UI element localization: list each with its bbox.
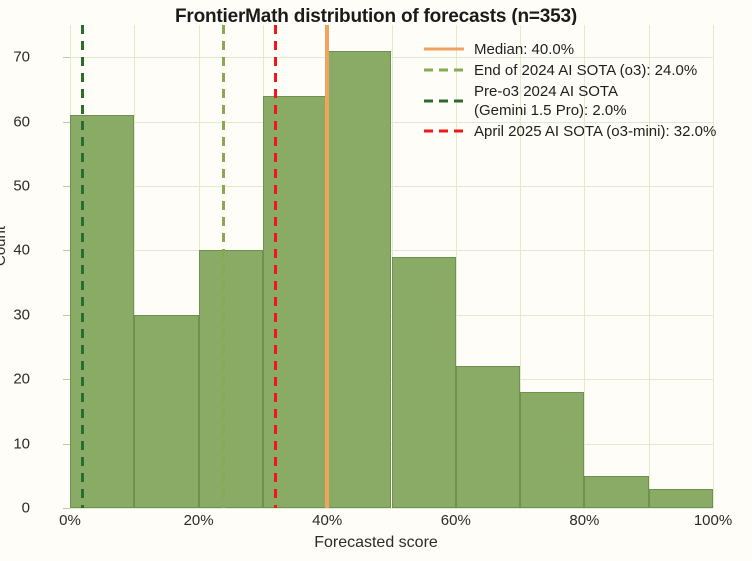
histogram-bar	[327, 51, 391, 508]
y-tick-label: 30	[0, 306, 30, 323]
dashed-line-icon	[424, 82, 464, 120]
x-axis-label: Forecasted score	[0, 534, 752, 552]
legend-item-label: April 2025 AI SOTA (o3-mini): 32.0%	[474, 122, 716, 141]
y-tick-label: 0	[0, 500, 30, 517]
reference-line-median	[325, 25, 329, 508]
reference-line-end-of-2024-sota	[222, 25, 225, 508]
histogram-bar	[520, 392, 584, 508]
dashed-line-icon	[424, 61, 464, 79]
y-tick-label: 70	[0, 49, 30, 66]
histogram-bar	[456, 366, 520, 508]
y-tick-label: 60	[0, 113, 30, 130]
y-tick-label: 50	[0, 178, 30, 195]
legend-item: Pre-o3 2024 AI SOTA (Gemini 1.5 Pro): 2.…	[424, 82, 742, 120]
y-tick-label: 20	[0, 371, 30, 388]
y-tick-mark	[63, 186, 70, 187]
histogram-bar	[584, 476, 648, 508]
solid-line-icon	[424, 40, 464, 58]
legend-item-label: Median: 40.0%	[474, 40, 574, 59]
y-tick-mark	[63, 315, 70, 316]
y-tick-label: 10	[0, 435, 30, 452]
legend-item: Median: 40.0%	[424, 40, 742, 59]
histogram-bar	[263, 96, 327, 508]
legend-item: April 2025 AI SOTA (o3-mini): 32.0%	[424, 122, 742, 141]
histogram-bar	[134, 315, 198, 508]
legend-item: End of 2024 AI SOTA (o3): 24.0%	[424, 61, 742, 80]
x-tick-label: 100%	[694, 512, 732, 529]
y-tick-mark	[63, 57, 70, 58]
legend: Median: 40.0%End of 2024 AI SOTA (o3): 2…	[424, 40, 742, 143]
histogram-bar	[199, 250, 263, 508]
histogram-bar	[392, 257, 456, 508]
histogram-bar	[649, 489, 713, 508]
y-axis-label: Count	[0, 226, 9, 266]
y-tick-mark	[63, 122, 70, 123]
x-tick-label: 0%	[59, 512, 81, 529]
legend-item-label: Pre-o3 2024 AI SOTA (Gemini 1.5 Pro): 2.…	[474, 82, 627, 120]
chart-root: FrontierMath distribution of forecasts (…	[0, 0, 752, 561]
histogram-bar	[70, 115, 134, 508]
gridline-y-0	[70, 508, 713, 509]
x-tick-label: 40%	[312, 512, 342, 529]
x-tick-label: 20%	[184, 512, 214, 529]
y-tick-mark	[63, 444, 70, 445]
reference-line-april-2025-sota	[274, 25, 277, 508]
y-tick-mark	[63, 250, 70, 251]
y-tick-mark	[63, 379, 70, 380]
x-tick-label: 80%	[569, 512, 599, 529]
dashed-line-icon	[424, 122, 464, 140]
y-tick-mark	[63, 508, 70, 509]
legend-item-label: End of 2024 AI SOTA (o3): 24.0%	[474, 61, 697, 80]
x-tick-label: 60%	[441, 512, 471, 529]
reference-line-pre-o3-2024-sota	[81, 25, 84, 508]
